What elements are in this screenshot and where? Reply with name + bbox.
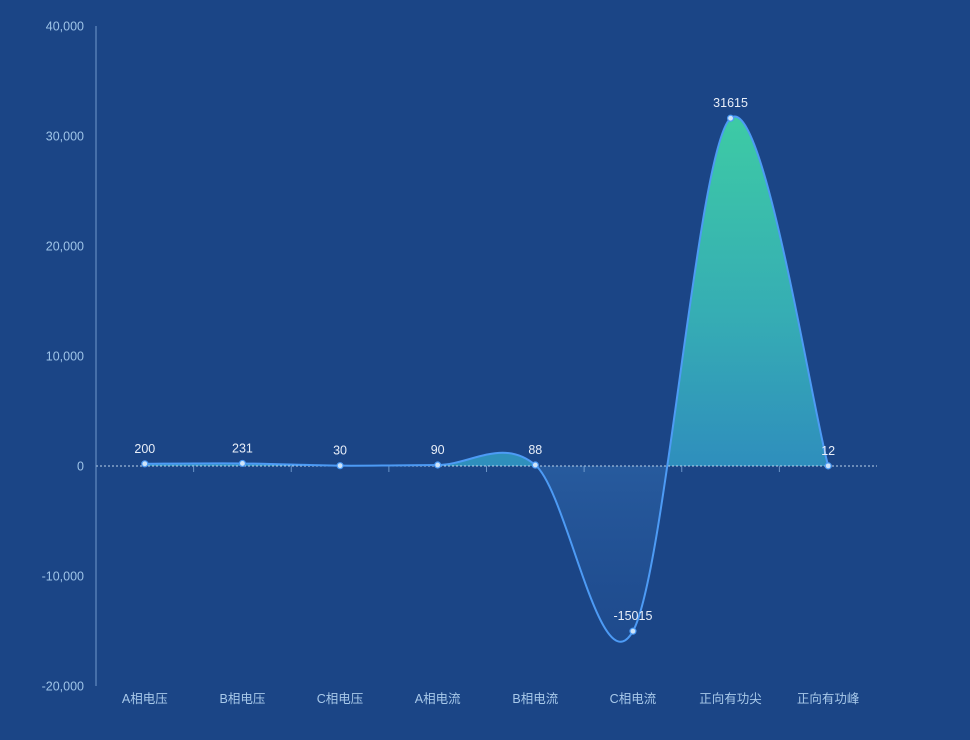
- data-point-marker[interactable]: [239, 460, 245, 466]
- data-value-label: 90: [431, 443, 445, 457]
- data-value-label: 231: [232, 441, 253, 455]
- area-fill-positive: [145, 117, 828, 642]
- x-axis-category-label[interactable]: A相电压: [122, 692, 168, 706]
- x-axis-category-label[interactable]: 正向有功尖: [699, 691, 762, 706]
- y-axis-tick-label: -10,000: [42, 570, 84, 584]
- y-axis-tick-label: 30,000: [46, 130, 84, 144]
- x-axis-category-label[interactable]: C相电流: [610, 692, 657, 706]
- x-axis-category-label[interactable]: 正向有功峰: [797, 691, 860, 706]
- data-value-label: 200: [134, 442, 155, 456]
- data-value-label: 88: [528, 443, 542, 457]
- data-point-marker[interactable]: [728, 115, 734, 121]
- data-point-marker[interactable]: [142, 461, 148, 467]
- x-axis-category-label[interactable]: C相电压: [317, 692, 364, 706]
- chart-page: 200231309088-150153161512 40,00030,00020…: [0, 0, 970, 740]
- data-point-marker[interactable]: [337, 463, 343, 469]
- y-axis-tick-label: 40,000: [46, 20, 84, 34]
- y-axis-tick-labels: 40,00030,00020,00010,0000-10,000-20,000: [42, 20, 84, 694]
- y-axis-tick-label: 10,000: [46, 350, 84, 364]
- x-axis-category-labels[interactable]: A相电压B相电压C相电压A相电流B相电流C相电流正向有功尖正向有功峰: [122, 691, 860, 706]
- data-value-label: 30: [333, 444, 347, 458]
- data-point-marker[interactable]: [825, 463, 831, 469]
- x-axis-ticks: [194, 466, 780, 472]
- area-chart[interactable]: 200231309088-150153161512 40,00030,00020…: [0, 0, 970, 740]
- y-axis-tick-label: 0: [77, 460, 84, 474]
- x-axis-category-label[interactable]: B相电压: [220, 692, 266, 706]
- x-axis-category-label[interactable]: B相电流: [512, 692, 558, 706]
- data-value-label: -15015: [613, 609, 652, 623]
- data-value-label: 31615: [713, 96, 748, 110]
- y-axis-tick-label: -20,000: [42, 680, 84, 694]
- data-point-marker[interactable]: [532, 462, 538, 468]
- y-axis-tick-label: 20,000: [46, 240, 84, 254]
- data-value-label: 12: [821, 444, 835, 458]
- x-axis-category-label[interactable]: A相电流: [415, 692, 461, 706]
- data-point-marker[interactable]: [630, 628, 636, 634]
- plot-area: 200231309088-150153161512 40,00030,00020…: [42, 20, 877, 707]
- data-point-marker[interactable]: [435, 462, 441, 468]
